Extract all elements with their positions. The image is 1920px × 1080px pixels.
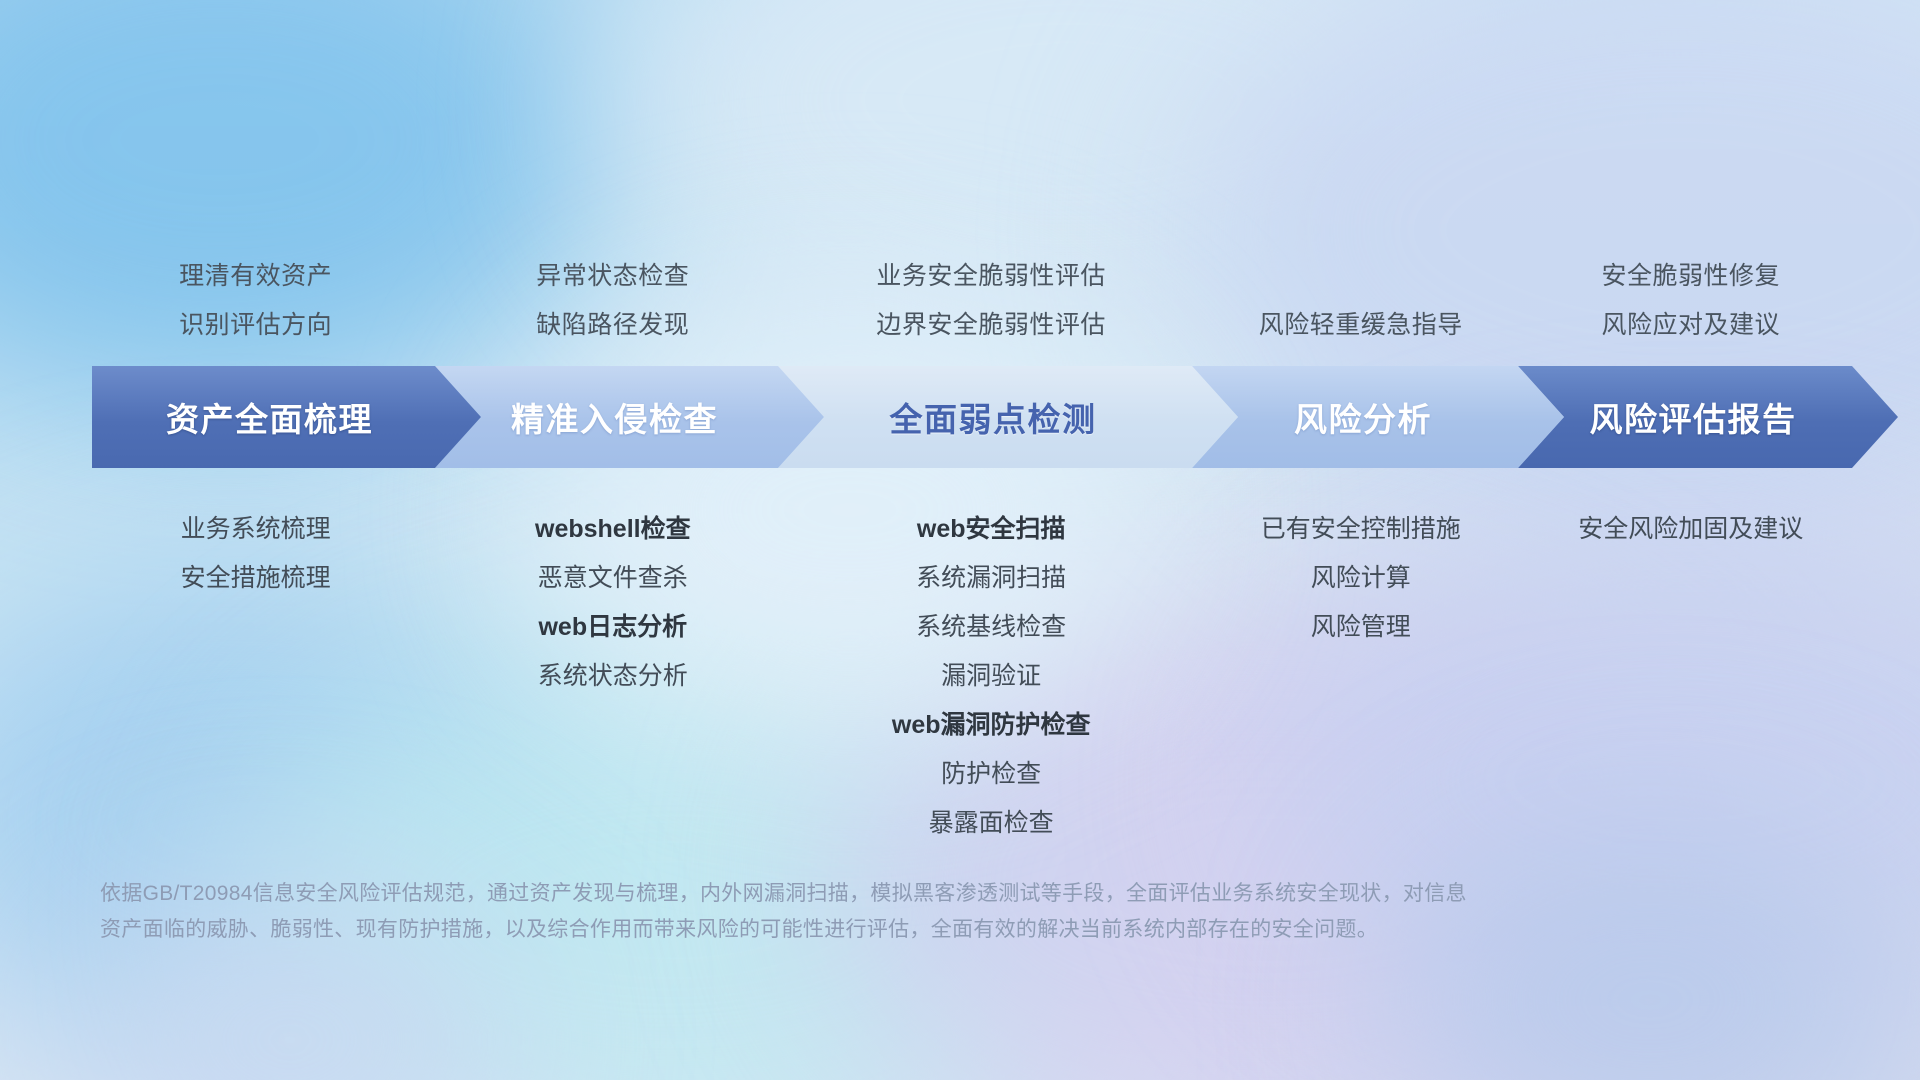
stage-arrow-asset-inventory[interactable]: 资产全面梳理 — [92, 366, 481, 468]
top-annotation-group-risk-report: 安全脆弱性修复风险应对及建议 — [1481, 252, 1901, 350]
stage-arrow-label: 全面弱点检测 — [890, 393, 1097, 441]
top-annotation-item: 安全脆弱性修复 — [1481, 252, 1901, 301]
footer-line-1: 依据GB/T20984信息安全风险评估规范，通过资产发现与梳理，内外网漏洞扫描，… — [100, 876, 1620, 912]
stage-arrow-label: 精准入侵检查 — [511, 393, 718, 441]
footer-description: 依据GB/T20984信息安全风险评估规范，通过资产发现与梳理，内外网漏洞扫描，… — [100, 876, 1620, 948]
detail-item: 系统漏洞扫描 — [781, 554, 1201, 603]
detail-item: 风险管理 — [1151, 603, 1571, 652]
detail-item: web安全扫描 — [781, 505, 1201, 554]
detail-item: web日志分析 — [403, 603, 823, 652]
stage-arrow-risk-report[interactable]: 风险评估报告 — [1518, 366, 1898, 468]
top-annotation-group-weakness-detection: 业务安全脆弱性评估边界安全脆弱性评估 — [781, 252, 1201, 350]
top-annotation-item: 异常状态检查 — [403, 252, 823, 301]
detail-item: 恶意文件查杀 — [403, 554, 823, 603]
detail-item: 风险计算 — [1151, 554, 1571, 603]
detail-item: web漏洞防护检查 — [781, 701, 1201, 750]
stage-arrow-band: 资产全面梳理精准入侵检查全面弱点检测风险分析风险评估报告 — [92, 366, 1852, 468]
detail-group-risk-report: 安全风险加固及建议 — [1481, 505, 1901, 554]
top-annotation-item: 缺陷路径发现 — [403, 301, 823, 350]
stage-arrow-weakness-detection[interactable]: 全面弱点检测 — [778, 366, 1238, 468]
detail-group-weakness-detection: web安全扫描系统漏洞扫描系统基线检查漏洞验证web漏洞防护检查防护检查暴露面检… — [781, 505, 1201, 848]
detail-item: 安全风险加固及建议 — [1481, 505, 1901, 554]
top-annotation-group-intrusion-check: 异常状态检查缺陷路径发现 — [403, 252, 823, 350]
stage-arrow-label: 风险评估报告 — [1590, 393, 1797, 441]
stage-arrow-label: 资产全面梳理 — [166, 393, 373, 441]
stage-arrow-label: 风险分析 — [1294, 393, 1432, 441]
detail-item: 防护检查 — [781, 750, 1201, 799]
detail-item: 暴露面检查 — [781, 799, 1201, 848]
top-annotation-item: 风险应对及建议 — [1481, 301, 1901, 350]
detail-item: 系统基线检查 — [781, 603, 1201, 652]
detail-item: 系统状态分析 — [403, 652, 823, 701]
top-annotation-item: 业务安全脆弱性评估 — [781, 252, 1201, 301]
detail-group-intrusion-check: webshell检查恶意文件查杀web日志分析系统状态分析 — [403, 505, 823, 701]
top-annotations-row: 理清有效资产识别评估方向异常状态检查缺陷路径发现业务安全脆弱性评估边界安全脆弱性… — [0, 0, 1920, 350]
detail-item: webshell检查 — [403, 505, 823, 554]
footer-line-2: 资产面临的威胁、脆弱性、现有防护措施，以及综合作用而带来风险的可能性进行评估，全… — [100, 912, 1620, 948]
stage-arrow-intrusion-check[interactable]: 精准入侵检查 — [435, 366, 824, 468]
top-annotation-item: 边界安全脆弱性评估 — [781, 301, 1201, 350]
detail-item: 漏洞验证 — [781, 652, 1201, 701]
stage-arrow-risk-analysis[interactable]: 风险分析 — [1192, 366, 1564, 468]
process-diagram: 理清有效资产识别评估方向异常状态检查缺陷路径发现业务安全脆弱性评估边界安全脆弱性… — [0, 0, 1920, 1080]
